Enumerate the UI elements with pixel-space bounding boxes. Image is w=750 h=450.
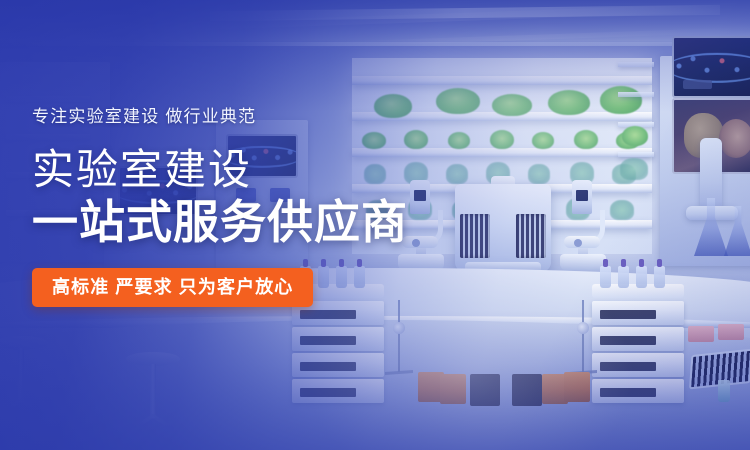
laboratory-promo-banner: 专注实验室建设 做行业典范 实验室建设 一站式服务供应商 高标准 严要求 只为客…: [0, 0, 750, 450]
overlay-bottom-vignette: [0, 310, 750, 450]
banner-headline-line2: 一站式服务供应商: [32, 196, 452, 248]
banner-tagline: 专注实验室建设 做行业典范: [32, 104, 452, 130]
banner-text-block: 专注实验室建设 做行业典范 实验室建设 一站式服务供应商 高标准 严要求 只为客…: [32, 104, 452, 307]
cta-button[interactable]: 高标准 严要求 只为客户放心: [32, 268, 313, 307]
overlay-top-vignette: [0, 0, 750, 112]
banner-headline-line1: 实验室建设: [32, 146, 452, 194]
